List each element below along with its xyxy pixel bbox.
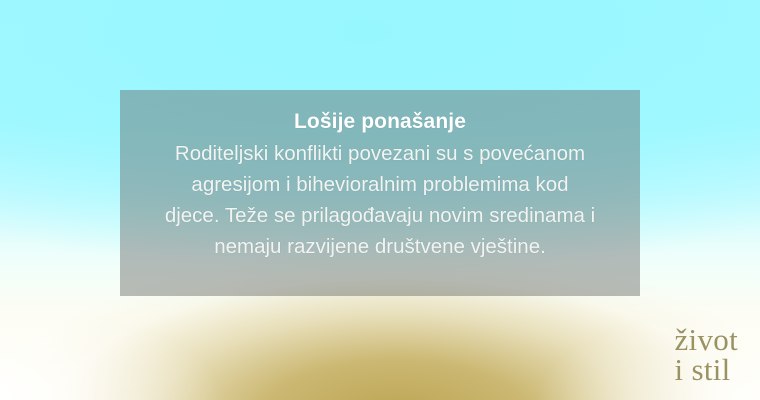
caption-title: Lošije ponašanje bbox=[294, 108, 466, 135]
caption-body: Roditeljski konflikti povezani su s pove… bbox=[165, 138, 595, 262]
brand-logo-line-2: i stil bbox=[675, 355, 739, 386]
caption-body-line-4: nemaju razvijene društvene vještine. bbox=[165, 231, 595, 262]
brand-logo-line-1: život bbox=[675, 325, 739, 356]
caption-body-line-2: agresijom i bihevioralnim problemima kod bbox=[165, 169, 595, 200]
slide-canvas: Lošije ponašanje Roditeljski konflikti p… bbox=[0, 0, 760, 400]
caption-body-line-1: Roditeljski konflikti povezani su s pove… bbox=[165, 138, 595, 169]
caption-overlay-panel: Lošije ponašanje Roditeljski konflikti p… bbox=[120, 90, 640, 296]
brand-logo: život i stil bbox=[675, 325, 739, 386]
caption-body-line-3: djece. Teže se prilagođavaju novim sredi… bbox=[165, 200, 595, 231]
